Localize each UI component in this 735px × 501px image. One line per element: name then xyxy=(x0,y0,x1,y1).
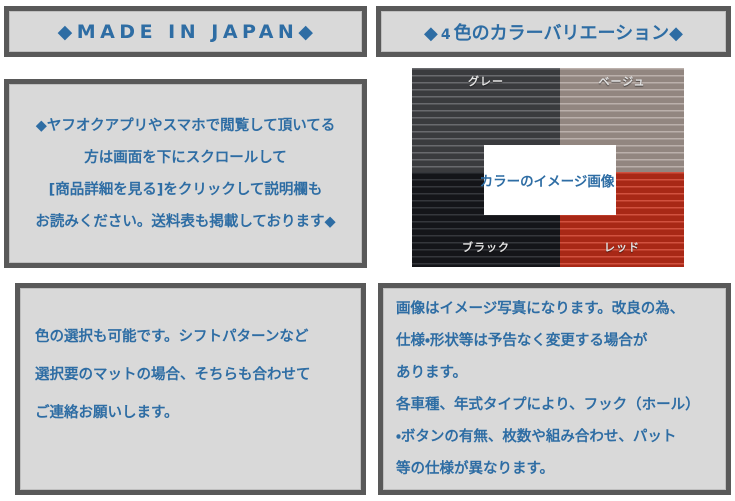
page-root: ◆MADE IN JAPAN◆ ◆4色のカラーバリエーション◆ ◆ヤフオクアプリ… xyxy=(0,0,735,501)
diamond-right-icon: ◆ xyxy=(298,21,317,43)
swatch-label-beige: ベージュ xyxy=(560,73,684,89)
swatch-label-red: レッド xyxy=(560,239,684,255)
color-count: 4 xyxy=(438,27,454,43)
notice-line: 選択要のマットの場合、そちらも合わせて xyxy=(35,356,346,394)
disclaimer-text: 画像はイメージ写真になります。改良の為、 仕様・形状等は予告なく変更する場合が … xyxy=(384,293,725,485)
notice-line: 画像はイメージ写真になります。改良の為、 xyxy=(396,293,713,325)
diamond-left-icon: ◆ xyxy=(424,23,438,44)
notice-line: 仕様・形状等は予告なく変更する場合が xyxy=(396,325,713,357)
color-select-notice-panel: 色の選択も可能です。シフトパターンなど 選択要のマットの場合、そちらも合わせて … xyxy=(15,283,366,495)
scroll-notice-inner: ◆ヤフオクアプリやスマホで閲覧して頂いてる 方は画面を下にスクロールして [商品… xyxy=(9,84,362,263)
notice-line: 方は画面を下にスクロールして xyxy=(20,142,351,174)
notice-line: ◆ヤフオクアプリやスマホで閲覧して頂いてる xyxy=(20,110,351,142)
notice-line: 各車種、年式タイプにより、フック（ホール） xyxy=(396,389,713,421)
notice-line: [商品詳細を見る]をクリックして説明欄も xyxy=(20,174,351,206)
disclaimer-inner: 画像はイメージ写真になります。改良の為、 仕様・形状等は予告なく変更する場合が … xyxy=(383,288,726,490)
color-variation-banner: ◆4色のカラーバリエーション◆ xyxy=(376,6,731,57)
disclaimer-panel: 画像はイメージ写真になります。改良の為、 仕様・形状等は予告なく変更する場合が … xyxy=(378,283,731,495)
color-select-notice-inner: 色の選択も可能です。シフトパターンなど 選択要のマットの場合、そちらも合わせて … xyxy=(20,288,361,490)
notice-line: 等の仕様が異なります。 xyxy=(396,453,713,485)
diamond-left-icon: ◆ xyxy=(58,21,77,43)
swatch-label-black: ブラック xyxy=(412,239,560,255)
photo-caption-box: カラーのイメージ画像 xyxy=(484,145,616,215)
photo-caption-text: カラーのイメージ画像 xyxy=(480,170,615,190)
color-variation-label: 色のカラーバリエーション xyxy=(454,23,669,44)
notice-line: お読みください。送料表も掲載しております◆ xyxy=(20,206,351,238)
color-select-notice-text: 色の選択も可能です。シフトパターンなど 選択要のマットの場合、そちらも合わせて … xyxy=(21,318,360,432)
notice-line: あります。 xyxy=(396,357,713,389)
color-variation-heading: ◆4色のカラーバリエーション◆ xyxy=(382,19,725,45)
diamond-right-icon: ◆ xyxy=(669,23,683,44)
made-in-japan-banner: ◆MADE IN JAPAN◆ xyxy=(4,6,367,57)
color-image-photo: グレー ベージュ ブラック レッド カラーのイメージ画像 xyxy=(412,68,684,267)
notice-line: ご連絡お願いします。 xyxy=(35,394,346,432)
made-in-japan-label: MADE IN JAPAN xyxy=(77,21,299,43)
made-in-japan-heading: ◆MADE IN JAPAN◆ xyxy=(10,21,361,43)
swatch-label-gray: グレー xyxy=(412,73,560,89)
notice-line: ・ボタンの有無、枚数や組み合わせ、パット xyxy=(396,421,713,453)
scroll-notice-panel: ◆ヤフオクアプリやスマホで閲覧して頂いてる 方は画面を下にスクロールして [商品… xyxy=(4,79,367,268)
color-variation-inner: ◆4色のカラーバリエーション◆ xyxy=(381,11,726,52)
notice-line: 色の選択も可能です。シフトパターンなど xyxy=(35,318,346,356)
scroll-notice-text: ◆ヤフオクアプリやスマホで閲覧して頂いてる 方は画面を下にスクロールして [商品… xyxy=(10,110,361,238)
made-in-japan-inner: ◆MADE IN JAPAN◆ xyxy=(9,11,362,52)
